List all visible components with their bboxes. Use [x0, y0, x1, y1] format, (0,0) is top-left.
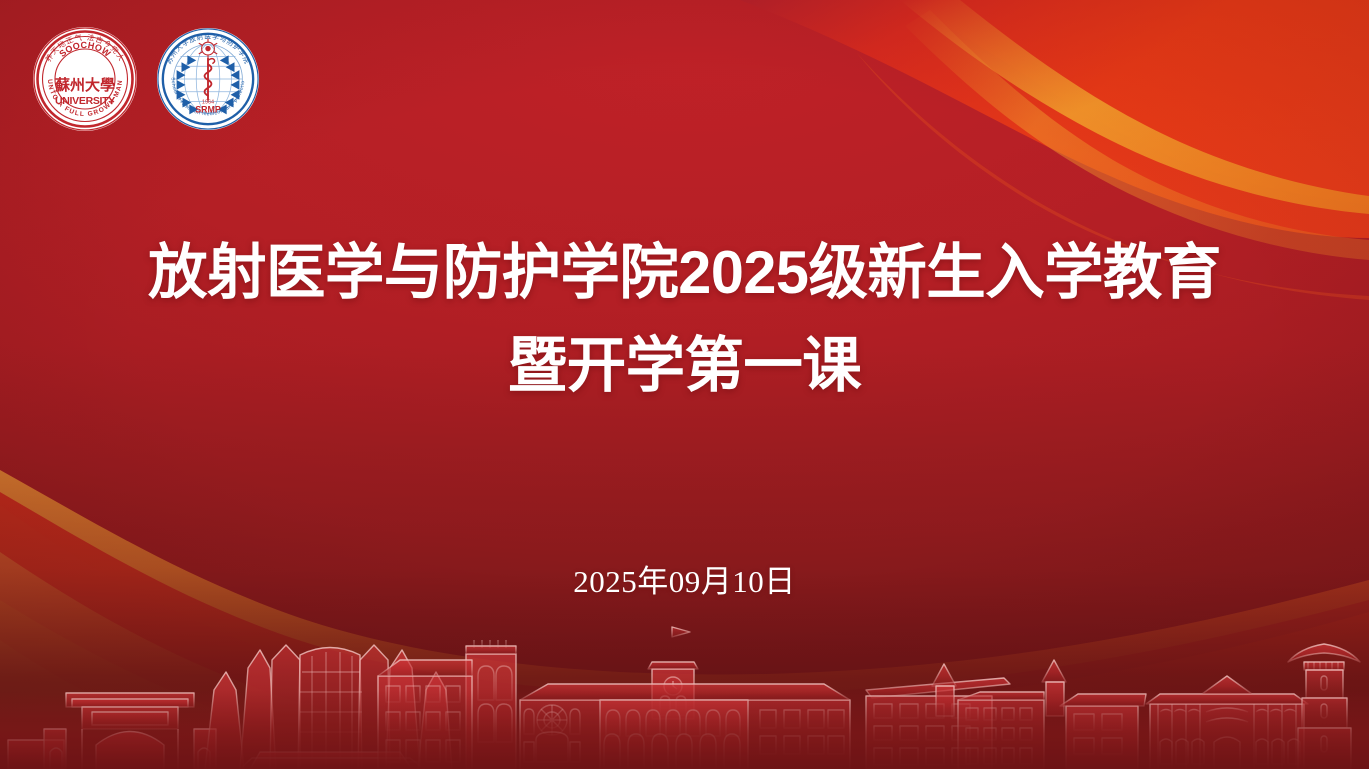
- presentation-slide: 养天地正气 法古今完人 UNTO A FULL GROWN MAN SOOCHO…: [0, 0, 1369, 769]
- slide-title: 放射医学与防护学院2025级新生入学教育 暨开学第一课: [0, 238, 1369, 402]
- slide-content: 放射医学与防护学院2025级新生入学教育 暨开学第一课 2025年09月10日: [0, 0, 1369, 769]
- title-line-2: 暨开学第一课: [7, 331, 1362, 402]
- title-line-1: 放射医学与防护学院2025级新生入学教育: [7, 238, 1362, 309]
- slide-date: 2025年09月10日: [0, 556, 1369, 601]
